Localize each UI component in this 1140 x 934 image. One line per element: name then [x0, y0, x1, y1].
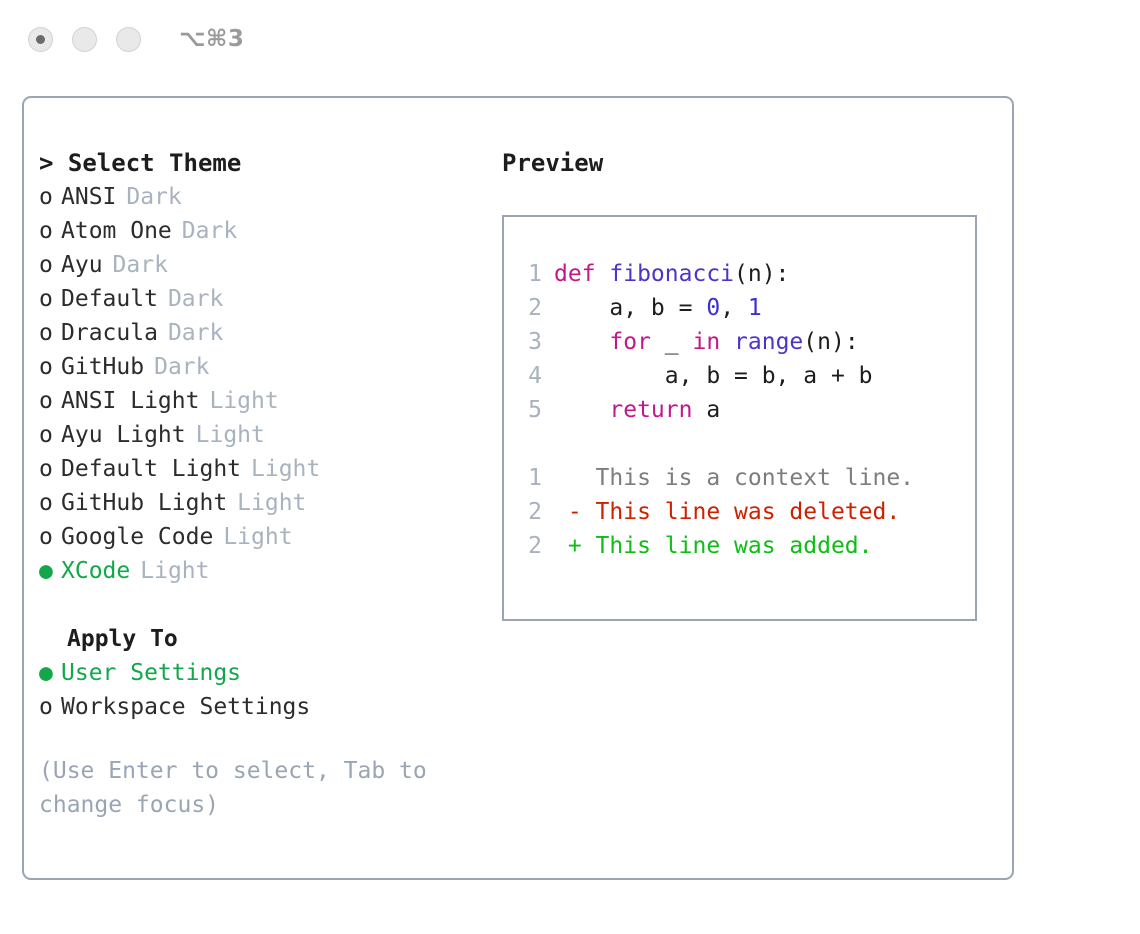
preview-column: Preview 1def fibonacci(n): 2 a, b = 0, 1…	[502, 146, 992, 621]
theme-option-xcode[interactable]: ●XCodeLight	[39, 554, 479, 588]
theme-variant-tag: Light	[251, 452, 320, 486]
line-number: 1	[516, 257, 542, 291]
select-theme-title: Select Theme	[68, 149, 241, 177]
diff-sample-block: 1 This is a context line. 2 - This line …	[516, 461, 975, 563]
select-theme-heading: > Select Theme	[39, 146, 479, 180]
theme-option-label: ANSI	[61, 180, 116, 214]
theme-option-ansi-light[interactable]: oANSI LightLight	[39, 384, 479, 418]
code-token	[720, 325, 734, 359]
apply-to-option-list: ●User Settings oWorkspace Settings	[39, 656, 479, 724]
theme-option-google-code[interactable]: oGoogle CodeLight	[39, 520, 479, 554]
theme-option-label: Atom One	[61, 214, 172, 248]
code-token: range	[734, 325, 803, 359]
theme-option-ayu[interactable]: oAyuDark	[39, 248, 479, 282]
recording-dot-icon[interactable]	[28, 27, 53, 52]
code-token: for	[609, 325, 651, 359]
radio-icon: o	[39, 282, 61, 316]
line-number: 4	[516, 359, 542, 393]
apply-to-option-label: User Settings	[61, 656, 241, 690]
recording-dot-inner	[36, 35, 45, 44]
main-panel: > Select Theme oANSIDark oAtom OneDark o…	[22, 96, 1014, 880]
keyboard-shortcut-label: ⌥⌘3	[179, 26, 244, 52]
diff-token: This is a context line.	[554, 461, 914, 495]
theme-variant-tag: Light	[237, 486, 306, 520]
radio-icon: o	[39, 690, 61, 724]
section-spacer	[39, 588, 479, 622]
theme-option-label: XCode	[61, 554, 130, 588]
code-token	[554, 393, 609, 427]
diff-token: + This line was added.	[554, 529, 873, 563]
apply-to-option-workspace-settings[interactable]: oWorkspace Settings	[39, 690, 479, 724]
code-line: 3 for _ in range(n):	[516, 325, 975, 359]
theme-option-default[interactable]: oDefaultDark	[39, 282, 479, 316]
preview-heading: Preview	[502, 146, 992, 180]
diff-line-deleted: 2 - This line was deleted.	[516, 495, 975, 529]
code-blank-line	[516, 427, 975, 461]
theme-option-label: Ayu Light	[61, 418, 186, 452]
code-token: ,	[720, 291, 748, 325]
code-token: def	[554, 257, 609, 291]
code-line: 1def fibonacci(n):	[516, 257, 975, 291]
code-token: return	[609, 393, 692, 427]
theme-option-label: Dracula	[61, 316, 158, 350]
theme-option-label: Default Light	[61, 452, 241, 486]
line-number: 2	[516, 495, 542, 529]
theme-picker-column: > Select Theme oANSIDark oAtom OneDark o…	[39, 146, 479, 822]
code-token: in	[692, 325, 720, 359]
theme-option-default-light[interactable]: oDefault LightLight	[39, 452, 479, 486]
radio-selected-icon: ●	[39, 554, 61, 588]
radio-icon: o	[39, 214, 61, 248]
theme-option-ansi[interactable]: oANSIDark	[39, 180, 479, 214]
apply-to-option-label: Workspace Settings	[61, 690, 310, 724]
radio-icon: o	[39, 452, 61, 486]
window-controls	[28, 27, 141, 52]
line-number: 3	[516, 325, 542, 359]
line-number: 2	[516, 529, 542, 563]
line-number: 1	[516, 461, 542, 495]
radio-selected-icon: ●	[39, 656, 61, 690]
theme-option-list: oANSIDark oAtom OneDark oAyuDark oDefaul…	[39, 180, 479, 588]
code-token: a, b = b, a + b	[554, 359, 873, 393]
theme-option-label: GitHub	[61, 350, 144, 384]
theme-option-label: Google Code	[61, 520, 213, 554]
code-line: 4 a, b = b, a + b	[516, 359, 975, 393]
inactive-dot-2-icon[interactable]	[72, 27, 97, 52]
line-number: 2	[516, 291, 542, 325]
radio-icon: o	[39, 248, 61, 282]
theme-option-label: Default	[61, 282, 158, 316]
radio-icon: o	[39, 486, 61, 520]
theme-option-label: GitHub Light	[61, 486, 227, 520]
code-token: 0	[706, 291, 720, 325]
code-line: 5 return a	[516, 393, 975, 427]
radio-icon: o	[39, 520, 61, 554]
theme-variant-tag: Dark	[182, 214, 237, 248]
title-bar: ⌥⌘3	[0, 0, 1140, 78]
radio-icon: o	[39, 316, 61, 350]
app-window: ⌥⌘3 > Select Theme oANSIDark oAtom OneDa…	[0, 0, 1140, 934]
apply-to-heading: Apply To	[39, 622, 479, 656]
code-token: _	[651, 325, 693, 359]
theme-variant-tag: Light	[223, 520, 292, 554]
apply-to-option-user-settings[interactable]: ●User Settings	[39, 656, 479, 690]
code-line: 2 a, b = 0, 1	[516, 291, 975, 325]
diff-line-context: 1 This is a context line.	[516, 461, 975, 495]
theme-option-label: ANSI Light	[61, 384, 199, 418]
code-token: fibonacci	[609, 257, 734, 291]
theme-option-dracula[interactable]: oDraculaDark	[39, 316, 479, 350]
theme-variant-tag: Dark	[126, 180, 181, 214]
theme-variant-tag: Light	[209, 384, 278, 418]
line-number: 5	[516, 393, 542, 427]
diff-token: - This line was deleted.	[554, 495, 900, 529]
inactive-dot-3-icon[interactable]	[116, 27, 141, 52]
code-token: (n):	[734, 257, 789, 291]
theme-option-ayu-light[interactable]: oAyu LightLight	[39, 418, 479, 452]
theme-variant-tag: Dark	[154, 350, 209, 384]
theme-option-label: Ayu	[61, 248, 103, 282]
theme-variant-tag: Dark	[168, 282, 223, 316]
diff-line-added: 2 + This line was added.	[516, 529, 975, 563]
theme-option-atom-one[interactable]: oAtom OneDark	[39, 214, 479, 248]
code-token: a, b =	[554, 291, 706, 325]
preview-code-box: 1def fibonacci(n): 2 a, b = 0, 1 3 for _…	[502, 215, 977, 621]
theme-variant-tag: Light	[140, 554, 209, 588]
code-token	[554, 325, 609, 359]
radio-icon: o	[39, 384, 61, 418]
code-token: a	[692, 393, 720, 427]
radio-icon: o	[39, 350, 61, 384]
keyboard-hint-text: (Use Enter to select, Tab to change focu…	[39, 754, 439, 822]
radio-icon: o	[39, 418, 61, 452]
code-token: 1	[748, 291, 762, 325]
radio-icon: o	[39, 180, 61, 214]
theme-variant-tag: Light	[196, 418, 265, 452]
code-token: (n):	[803, 325, 858, 359]
theme-variant-tag: Dark	[168, 316, 223, 350]
theme-option-github-light[interactable]: oGitHub LightLight	[39, 486, 479, 520]
theme-variant-tag: Dark	[113, 248, 168, 282]
prompt-caret-icon: >	[39, 149, 68, 177]
theme-option-github[interactable]: oGitHubDark	[39, 350, 479, 384]
code-sample-block: 1def fibonacci(n): 2 a, b = 0, 1 3 for _…	[516, 257, 975, 427]
